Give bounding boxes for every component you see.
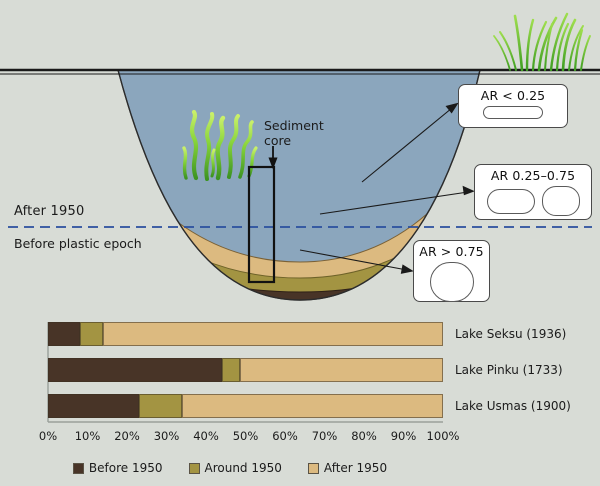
- callout-ar-high-label: AR > 0.75: [414, 244, 489, 259]
- bar-row: [48, 322, 443, 346]
- chart-legend: Before 1950Around 1950After 1950: [0, 461, 460, 475]
- legend-item: Around 1950: [189, 461, 282, 475]
- bar-segment-after-1950: [240, 358, 443, 382]
- bar-category-label: Lake Seksu (1936): [455, 327, 566, 341]
- callout-ar-high-shapes: [414, 262, 489, 302]
- sediment-core-label-line1: Sediment: [264, 118, 324, 133]
- bar-segment-before-1950: [48, 394, 139, 418]
- bar-row: [48, 394, 443, 418]
- rounded-square-shape-icon: [542, 186, 580, 216]
- circle-shape-icon: [430, 262, 474, 302]
- x-axis-tick-label: 40%: [193, 429, 219, 443]
- legend-item: After 1950: [308, 461, 387, 475]
- callout-ar-less-than-0-25: AR < 0.25: [458, 84, 568, 128]
- x-axis-tick-label: 50%: [233, 429, 259, 443]
- legend-label: Before 1950: [89, 461, 163, 475]
- callout-ar-low-shapes: [459, 106, 567, 119]
- x-axis-tick-label: 100%: [427, 429, 460, 443]
- bar-segment-after-1950: [103, 322, 443, 346]
- sediment-core-label-line2: core: [264, 133, 324, 148]
- callout-ar-mid-label: AR 0.25–0.75: [475, 168, 591, 183]
- legend-swatch: [189, 463, 200, 474]
- legend-swatch: [308, 463, 319, 474]
- bar-segment-around-1950: [222, 358, 240, 382]
- callout-ar-0-25-to-0-75: AR 0.25–0.75: [474, 164, 592, 220]
- x-axis-tick-label: 10%: [75, 429, 101, 443]
- stacked-bar-chart: Lake Seksu (1936)Lake Pinku (1733)Lake U…: [0, 315, 600, 486]
- legend-label: Around 1950: [205, 461, 282, 475]
- bar-row: [48, 358, 443, 382]
- rounded-pill-shape-icon: [487, 189, 535, 214]
- callout-ar-greater-than-0-75: AR > 0.75: [413, 240, 490, 302]
- bar-segment-after-1950: [182, 394, 443, 418]
- x-axis-tick-label: 20%: [114, 429, 140, 443]
- x-axis-tick-label: 70%: [312, 429, 338, 443]
- x-axis-tick-label: 80%: [351, 429, 377, 443]
- callout-ar-mid-shapes: [475, 186, 591, 216]
- legend-item: Before 1950: [73, 461, 163, 475]
- x-axis-tick-label: 90%: [391, 429, 417, 443]
- bar-category-label: Lake Pinku (1733): [455, 363, 563, 377]
- bar-segment-around-1950: [80, 322, 104, 346]
- after-1950-label: After 1950: [14, 204, 84, 219]
- bar-segment-around-1950: [139, 394, 182, 418]
- bar-segment-before-1950: [48, 358, 222, 382]
- legend-swatch: [73, 463, 84, 474]
- elongated-pill-shape-icon: [483, 106, 543, 119]
- sediment-core-label: Sediment core: [264, 118, 324, 148]
- x-axis-tick-label: 30%: [154, 429, 180, 443]
- callout-ar-low-label: AR < 0.25: [459, 88, 567, 103]
- legend-label: After 1950: [324, 461, 387, 475]
- x-axis-tick-label: 0%: [39, 429, 57, 443]
- bar-segment-before-1950: [48, 322, 80, 346]
- bar-category-label: Lake Usmas (1900): [455, 399, 571, 413]
- diagram-root: Sediment core After 1950 Before plastic …: [0, 0, 600, 486]
- x-axis-tick-label: 60%: [272, 429, 298, 443]
- before-plastic-epoch-label: Before plastic epoch: [14, 236, 142, 251]
